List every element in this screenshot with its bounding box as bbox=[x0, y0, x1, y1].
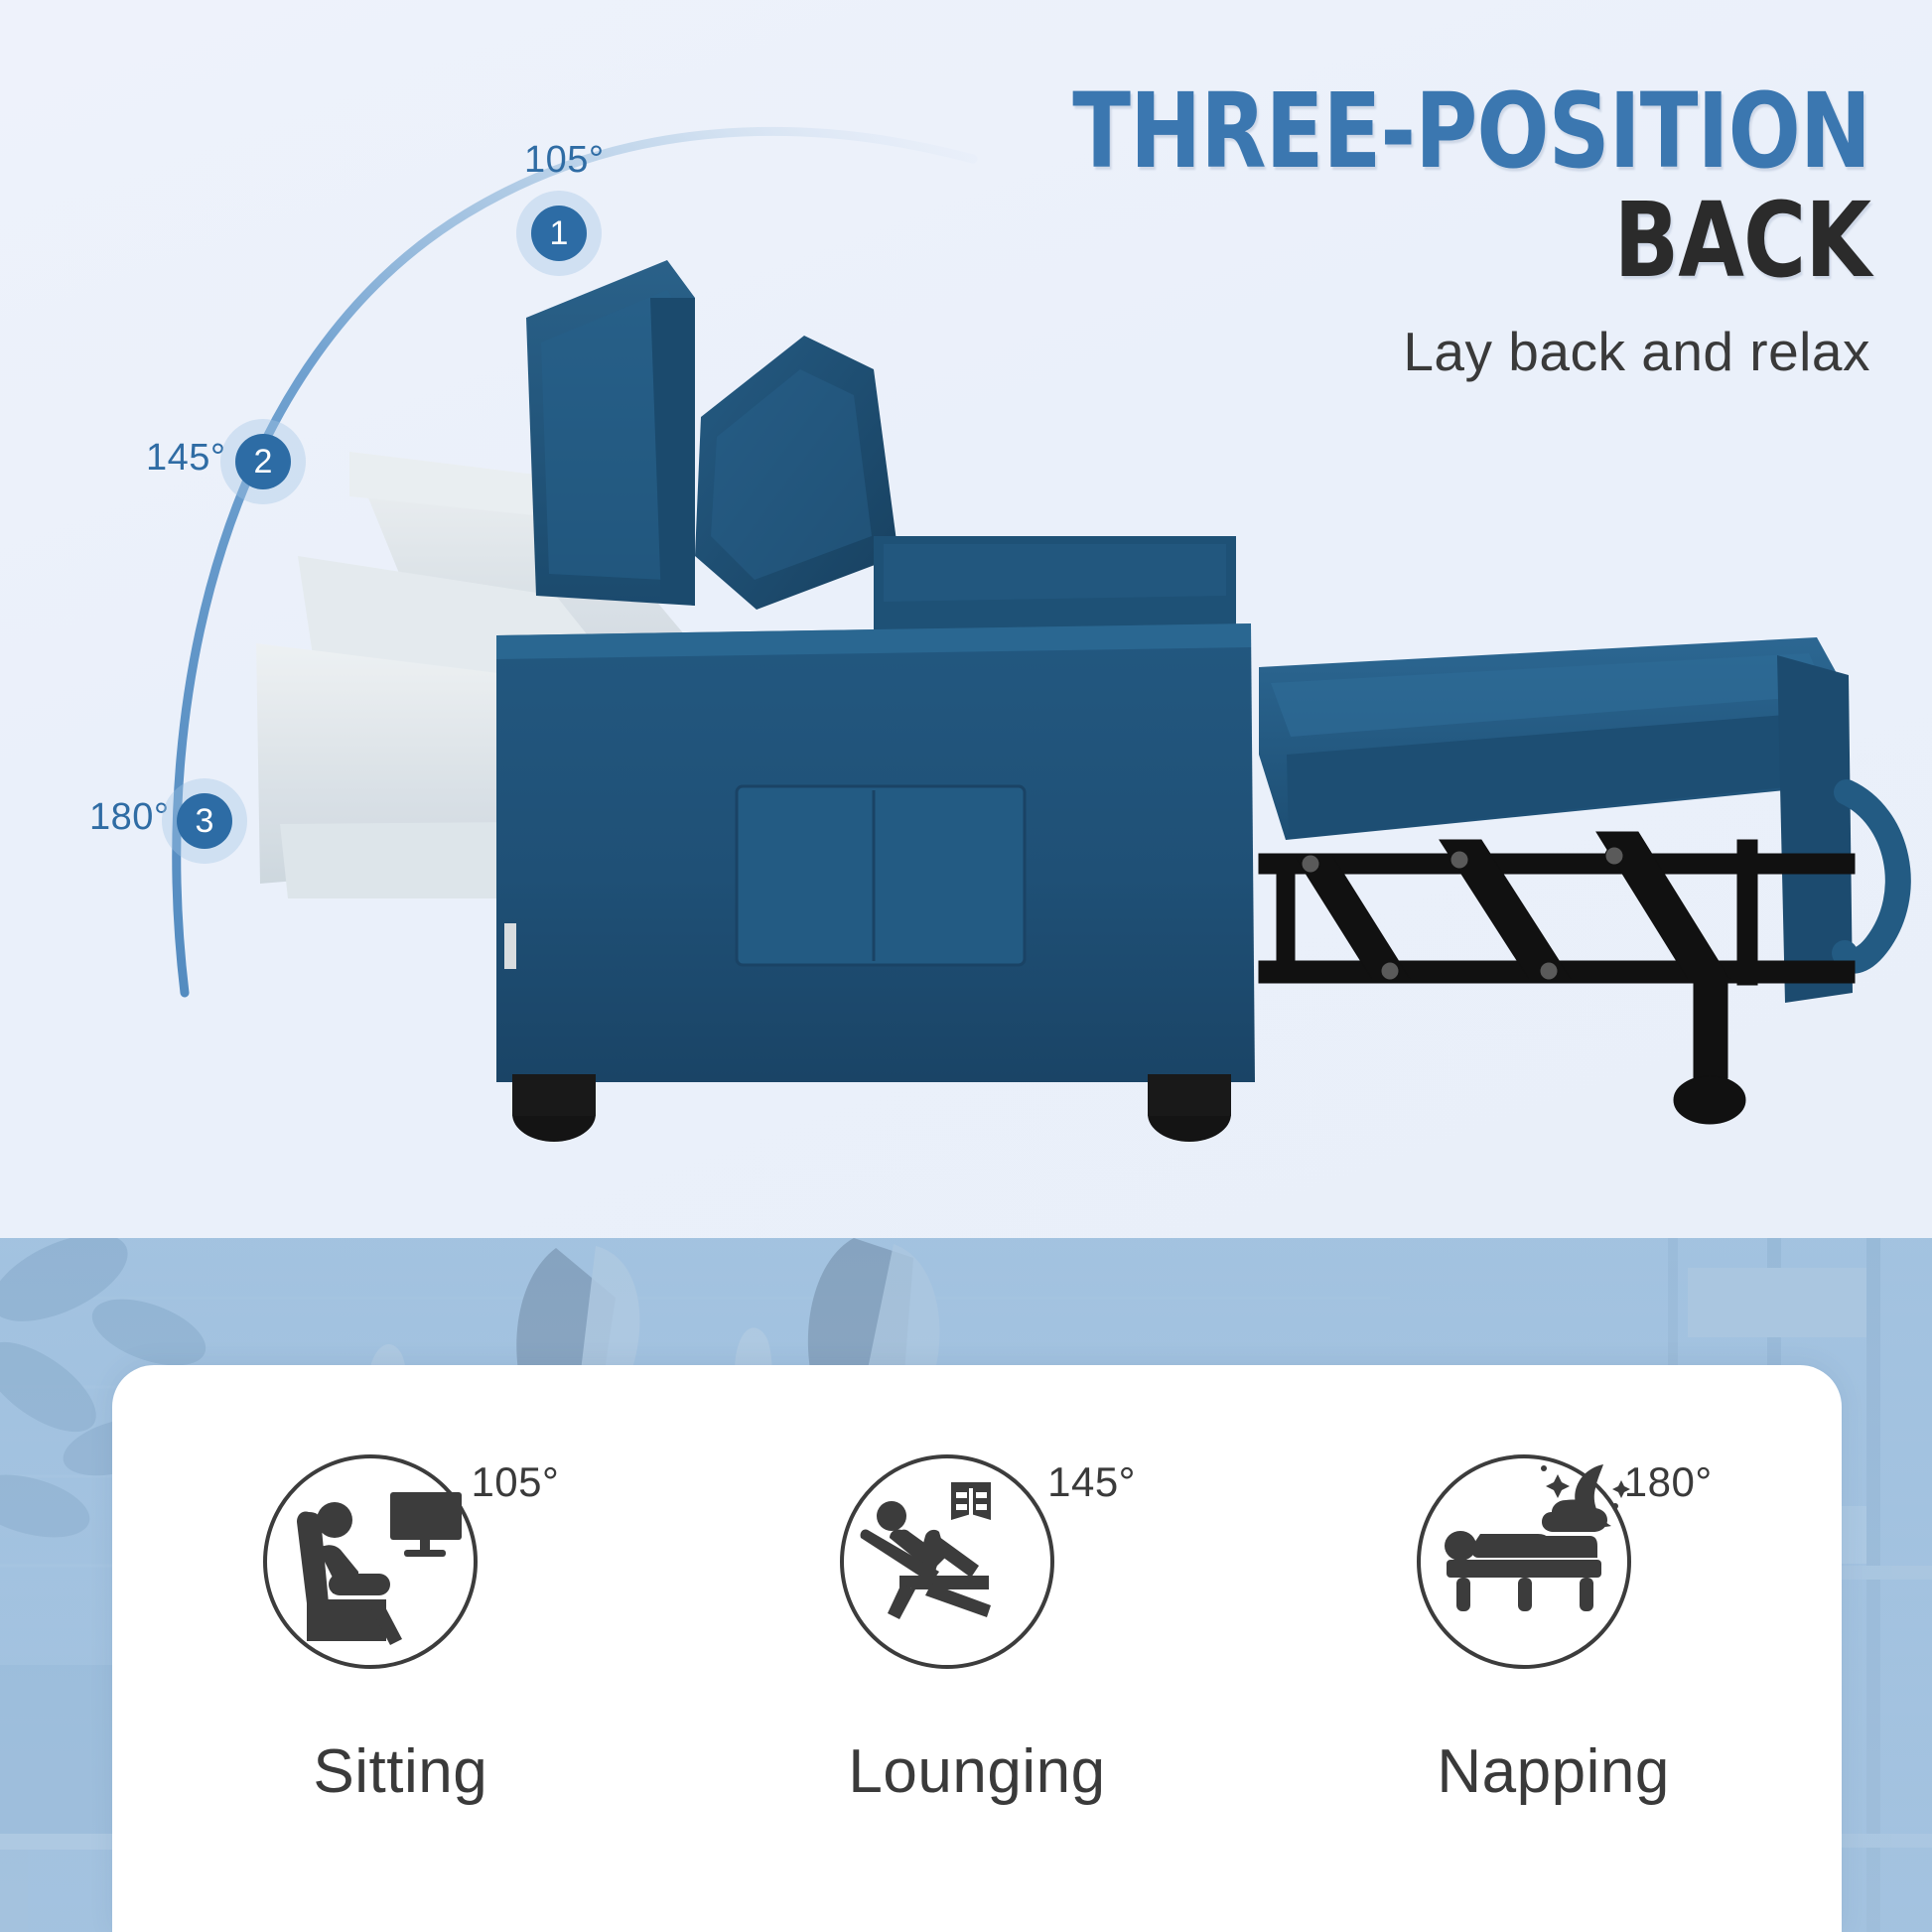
product-infographic: 105° 1 145° 2 180° 3 bbox=[0, 0, 1932, 1932]
headline-line-2: BACK bbox=[929, 187, 1870, 295]
feature-lounging[interactable]: 145° Lounging bbox=[749, 1450, 1205, 1807]
feature-sitting[interactable]: 105° Sitting bbox=[172, 1450, 628, 1807]
top-hero-panel: 105° 1 145° 2 180° 3 bbox=[0, 0, 1932, 1238]
feature-napping-caption: Napping bbox=[1437, 1736, 1669, 1807]
bottom-lifestyle-panel: 105° Sitting bbox=[0, 1238, 1932, 1932]
feature-sitting-icon-row: 105° bbox=[241, 1450, 559, 1681]
feature-napping-angle: 180° bbox=[1624, 1458, 1713, 1506]
sofa-legs bbox=[512, 1074, 1231, 1142]
recliner-metal-frame bbox=[1259, 832, 1855, 1124]
feature-list: 105° Sitting bbox=[112, 1365, 1842, 1932]
sofa-side-body bbox=[496, 623, 1255, 1082]
person-napping-bed-moon-icon bbox=[1417, 1454, 1631, 1669]
headline-block: THREE-POSITION BACK Lay back and relax bbox=[848, 79, 1870, 384]
feature-lounging-angle: 145° bbox=[1047, 1458, 1136, 1506]
pull-strap bbox=[1845, 792, 1898, 961]
headline-line-1: THREE-POSITION bbox=[929, 79, 1870, 183]
sofa-backrest bbox=[526, 260, 695, 606]
headline-subtitle: Lay back and relax bbox=[848, 319, 1870, 384]
feature-lounging-icon-row: 145° bbox=[818, 1450, 1136, 1681]
feature-sitting-angle: 105° bbox=[471, 1458, 559, 1506]
feature-napping[interactable]: 180° Napping bbox=[1325, 1450, 1782, 1807]
feature-card: 105° Sitting bbox=[112, 1365, 1842, 1932]
person-sitting-watching-tv-icon bbox=[263, 1454, 478, 1669]
feature-sitting-caption: Sitting bbox=[313, 1736, 487, 1807]
feature-napping-icon-row: 180° bbox=[1395, 1450, 1713, 1681]
feature-lounging-caption: Lounging bbox=[848, 1736, 1105, 1807]
person-lounging-reading-icon bbox=[840, 1454, 1054, 1669]
side-pocket bbox=[737, 786, 1025, 965]
